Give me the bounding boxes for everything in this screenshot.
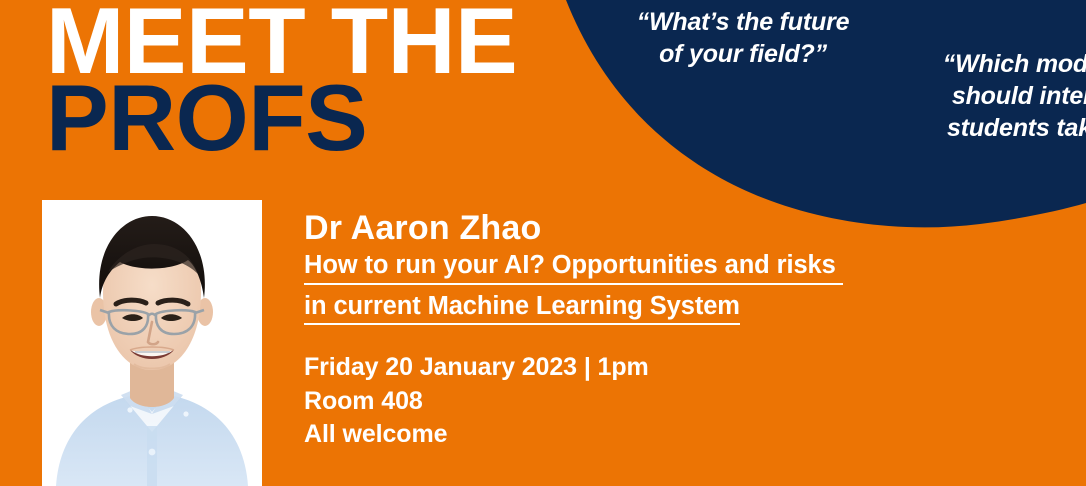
event-room: Room 408 xyxy=(304,385,1064,419)
event-datetime: Friday 20 January 2023 | 1pm xyxy=(304,351,1064,385)
speaker-details: Dr Aaron Zhao How to run your AI? Opport… xyxy=(304,210,1064,452)
speaker-name: Dr Aaron Zhao xyxy=(304,210,1064,247)
quote-which-modules: “Which modules should interest students … xyxy=(905,48,1086,144)
masthead: MEET THE PROFS xyxy=(46,2,517,156)
quote-future-of-field: “What’s the future of your field?” xyxy=(598,6,888,70)
event-details: Friday 20 January 2023 | 1pm Room 408 Al… xyxy=(304,351,1064,452)
portrait-illustration xyxy=(42,200,262,486)
speaker-portrait-photo xyxy=(42,200,262,486)
talk-title: How to run your AI? Opportunities and ri… xyxy=(304,253,1064,334)
talk-title-line-1: How to run your AI? Opportunities and ri… xyxy=(304,253,843,285)
meet-the-profs-poster: MEET THE PROFS “What’s the future of you… xyxy=(0,0,1086,486)
event-welcome-note: All welcome xyxy=(304,418,1064,452)
talk-title-line-2: in current Machine Learning System xyxy=(304,294,740,326)
